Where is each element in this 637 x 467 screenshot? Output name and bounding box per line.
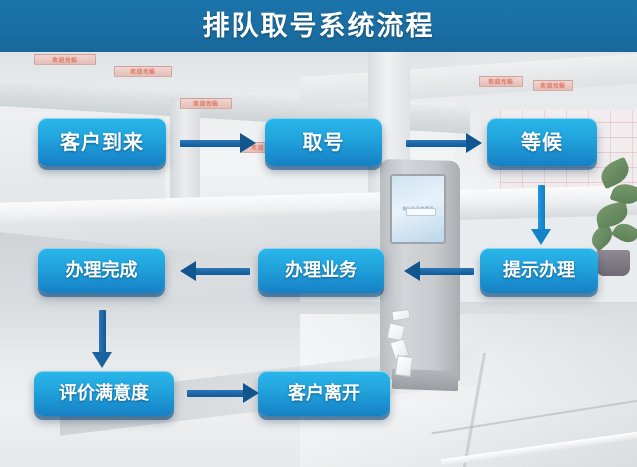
flow-node-customer-leaves[interactable]: 客户离开 bbox=[258, 371, 390, 416]
counter-led-sign: 欢迎光临 bbox=[533, 80, 573, 91]
arrow-take-number-to-wait bbox=[406, 133, 482, 153]
flow-node-label: 办理业务 bbox=[285, 262, 357, 280]
arrow-head-right-icon bbox=[466, 133, 482, 153]
counter-led-sign: 欢迎光临 bbox=[479, 76, 523, 87]
plant-leaf-icon bbox=[587, 222, 617, 251]
flow-node-rate-satisfaction[interactable]: 评价满意度 bbox=[34, 371, 174, 416]
arrow-head-right-icon bbox=[243, 383, 259, 403]
arrow-shaft bbox=[187, 390, 245, 397]
arrow-head-left-icon bbox=[404, 261, 420, 281]
flow-node-label: 办理完成 bbox=[66, 262, 138, 280]
title-banner: 排队取号系统流程 bbox=[0, 0, 637, 52]
flow-node-handle-business[interactable]: 办理业务 bbox=[258, 248, 384, 293]
flow-node-wait[interactable]: 等候 bbox=[487, 118, 597, 166]
flow-node-take-number[interactable]: 取号 bbox=[265, 118, 382, 166]
arrow-shaft bbox=[406, 140, 468, 147]
arrow-prompt-service-to-handle-business bbox=[404, 261, 474, 281]
arrow-rate-satisfaction-to-customer-leaves bbox=[187, 383, 259, 403]
kiosk-touchscreen: 排队叫号取票机 bbox=[390, 174, 446, 244]
flow-node-service-complete[interactable]: 办理完成 bbox=[38, 248, 165, 293]
counter-led-sign: 欢迎光临 bbox=[34, 54, 96, 65]
flowchart-page: 排队取号系统流程 欢迎光临 欢迎光临 欢迎光临 欢迎光临 欢迎光临 欢迎光临 bbox=[0, 0, 637, 467]
arrow-head-down-icon bbox=[531, 229, 551, 245]
arrow-head-left-icon bbox=[180, 261, 196, 281]
arrow-shaft bbox=[180, 140, 242, 147]
counter-led-sign: 欢迎光临 bbox=[114, 66, 172, 77]
flow-node-label: 客户到来 bbox=[60, 132, 144, 152]
kiosk-screen-button bbox=[406, 208, 436, 216]
arrow-handle-business-to-service-complete bbox=[180, 261, 250, 281]
arrow-service-complete-to-rate-satisfaction bbox=[85, 310, 119, 368]
flow-node-label: 取号 bbox=[303, 132, 345, 152]
arrow-customer-arrives-to-take-number bbox=[180, 133, 256, 153]
page-title: 排队取号系统流程 bbox=[203, 13, 435, 40]
arrow-wait-to-prompt-service bbox=[524, 185, 558, 245]
flow-node-label: 客户离开 bbox=[288, 385, 360, 403]
arrow-head-down-icon bbox=[92, 352, 112, 368]
flow-node-label: 等候 bbox=[521, 132, 563, 152]
arrow-shaft bbox=[99, 310, 106, 355]
arrow-shaft bbox=[418, 268, 474, 275]
arrow-shaft bbox=[538, 185, 545, 232]
plant-pot bbox=[596, 250, 630, 276]
arrow-shaft bbox=[194, 268, 250, 275]
counter-led-sign: 欢迎光临 bbox=[180, 98, 232, 109]
arrow-head-right-icon bbox=[240, 133, 256, 153]
flow-node-customer-arrives[interactable]: 客户到来 bbox=[38, 118, 166, 166]
flow-node-label: 提示办理 bbox=[503, 262, 575, 280]
flow-node-label: 评价满意度 bbox=[59, 385, 149, 403]
printed-ticket bbox=[395, 355, 414, 377]
flow-node-prompt-service[interactable]: 提示办理 bbox=[480, 248, 598, 293]
